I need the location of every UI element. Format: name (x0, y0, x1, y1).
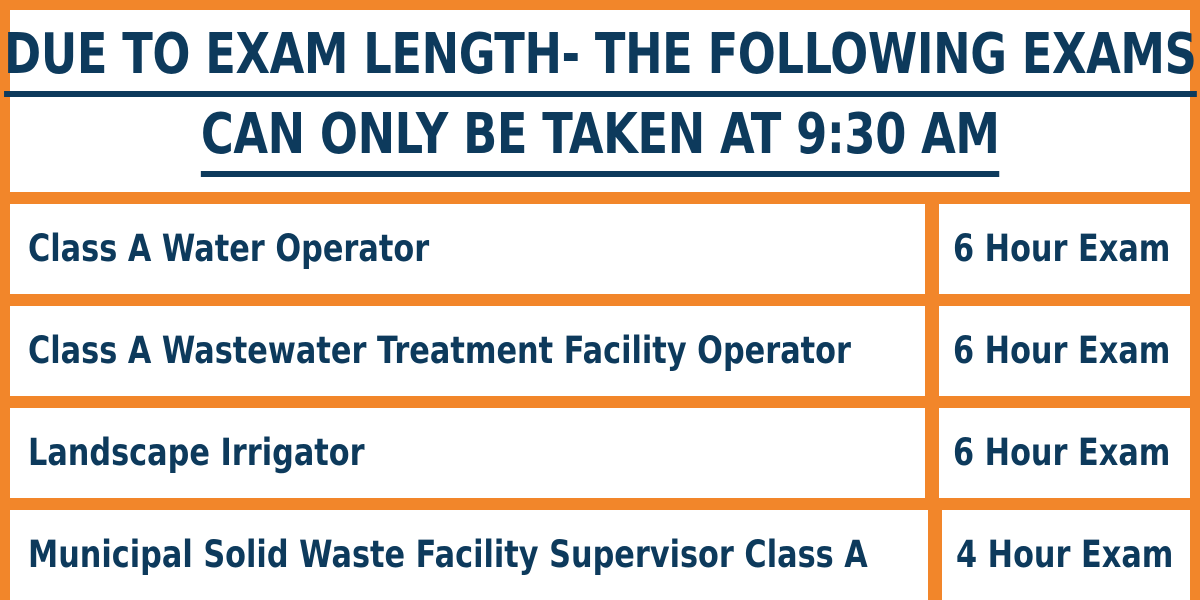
exam-name-cell: Class A Wastewater Treatment Facility Op… (10, 306, 925, 396)
notice-title-line-2: CAN ONLY BE TAKEN AT 9:30 AM (201, 101, 1000, 177)
exam-name-label: Municipal Solid Waste Facility Superviso… (28, 534, 868, 576)
exam-duration-label: 6 Hour Exam (953, 228, 1170, 270)
exam-duration-label: 4 Hour Exam (956, 534, 1173, 576)
exam-name-cell: Class A Water Operator (10, 204, 925, 294)
exam-duration-cell: 6 Hour Exam (939, 204, 1190, 294)
exam-duration-label: 6 Hour Exam (953, 432, 1170, 474)
exam-duration-cell: 6 Hour Exam (939, 408, 1190, 498)
table-row: Municipal Solid Waste Facility Superviso… (10, 510, 1190, 600)
exam-name-label: Class A Water Operator (28, 228, 429, 270)
exam-name-label: Class A Wastewater Treatment Facility Op… (28, 330, 851, 372)
table-row: Class A Wastewater Treatment Facility Op… (10, 306, 1190, 396)
exam-name-cell: Landscape Irrigator (10, 408, 925, 498)
notice-title-line-1: DUE TO EXAM LENGTH- THE FOLLOWING EXAMS (4, 21, 1196, 97)
notice-title-banner: DUE TO EXAM LENGTH- THE FOLLOWING EXAMS … (10, 10, 1190, 192)
exam-duration-cell: 4 Hour Exam (942, 510, 1190, 600)
exam-notice-board: DUE TO EXAM LENGTH- THE FOLLOWING EXAMS … (0, 0, 1200, 600)
exam-list: Class A Water Operator 6 Hour Exam Class… (10, 192, 1190, 600)
exam-duration-cell: 6 Hour Exam (939, 306, 1190, 396)
exam-duration-label: 6 Hour Exam (953, 330, 1170, 372)
table-row: Landscape Irrigator 6 Hour Exam (10, 408, 1190, 498)
exam-name-cell: Municipal Solid Waste Facility Superviso… (10, 510, 928, 600)
exam-name-label: Landscape Irrigator (28, 432, 365, 474)
table-row: Class A Water Operator 6 Hour Exam (10, 204, 1190, 294)
